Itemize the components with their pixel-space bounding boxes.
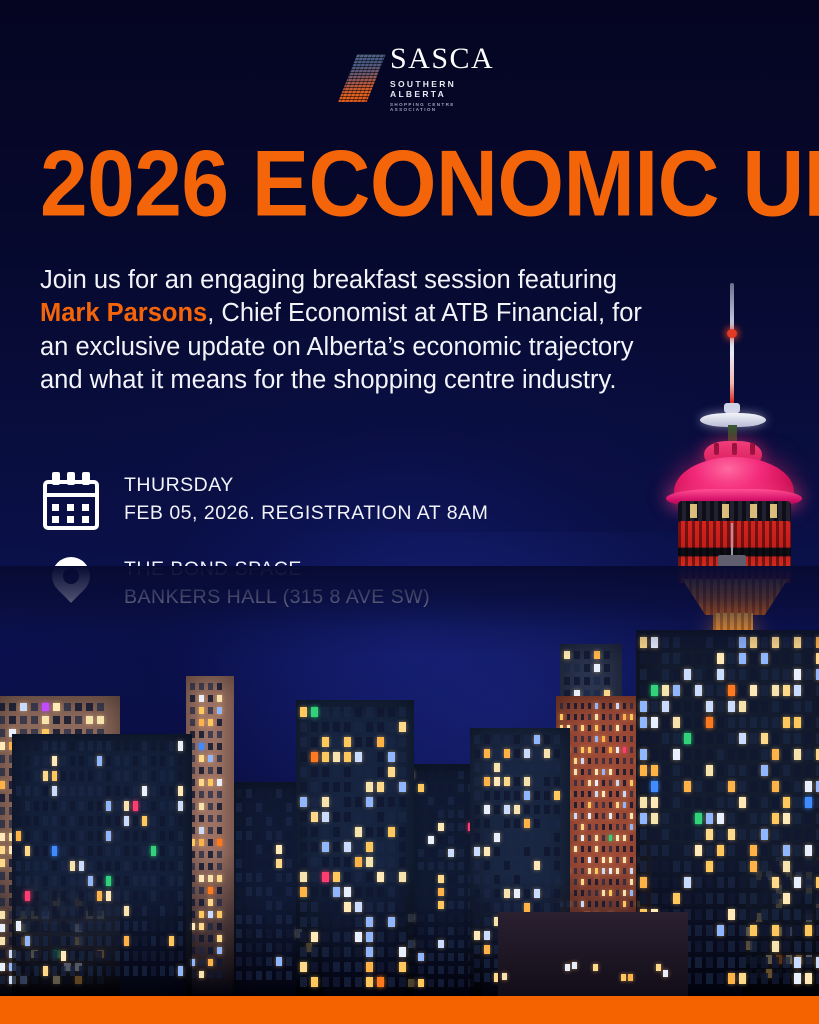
- logo-name: SASCA: [390, 44, 494, 74]
- calgary-tower-graphic: [656, 283, 819, 663]
- logo-subtitle-primary: SOUTHERN ALBERTA: [390, 79, 494, 99]
- event-day: THURSDAY: [124, 472, 488, 500]
- tower-mast: [730, 283, 734, 411]
- sasca-logo: SASCA SOUTHERN ALBERTA SHOPPING CENTRE A…: [345, 50, 485, 105]
- tower-observation-deck: [678, 501, 791, 523]
- building: [12, 734, 192, 996]
- event-date-text: THURSDAY FEB 05, 2026. REGISTRATION AT 8…: [124, 472, 488, 527]
- tower-elevator-car: [718, 555, 746, 567]
- tower-elevator-cable: [731, 523, 733, 557]
- event-date-time: FEB 05, 2026. REGISTRATION AT 8AM: [124, 500, 488, 528]
- event-details: THURSDAY FEB 05, 2026. REGISTRATION AT 8…: [40, 470, 560, 638]
- building: [186, 676, 234, 996]
- map-pin-icon: [40, 554, 102, 614]
- tower-crown-notch: [714, 443, 719, 455]
- speaker-name: Mark Parsons: [40, 299, 207, 327]
- calendar-icon: [40, 470, 102, 530]
- venue-name: THE BOND SPACE: [124, 556, 430, 584]
- tower-beacon-light: [727, 329, 737, 338]
- venue-address: BANKERS HALL (315 8 AVE SW): [124, 584, 430, 612]
- logo-subtitle-secondary: SHOPPING CENTRE ASSOCIATION: [390, 102, 494, 112]
- building-podium: [498, 912, 688, 996]
- logo-wordmark: SASCA SOUTHERN ALBERTA SHOPPING CENTRE A…: [390, 44, 494, 112]
- event-location-text: THE BOND SPACE BANKERS HALL (315 8 AVE S…: [124, 556, 430, 611]
- tower-underside-lights: [682, 579, 788, 615]
- event-poster: SASCA SOUTHERN ALBERTA SHOPPING CENTRE A…: [0, 0, 819, 1024]
- event-description: Join us for an engaging breakfast sessio…: [40, 264, 650, 398]
- striped-parallelogram-icon: [338, 54, 386, 102]
- building: [296, 700, 414, 996]
- event-location-row: THE BOND SPACE BANKERS HALL (315 8 AVE S…: [40, 554, 560, 614]
- page-title: 2026 ECONOMIC UPDATE: [40, 138, 805, 228]
- footer-accent-bar: [0, 996, 819, 1024]
- tower-crown-notch: [732, 443, 737, 455]
- tower-pod: [678, 521, 791, 583]
- description-part-1: Join us for an engaging breakfast sessio…: [40, 266, 617, 294]
- tower-crown-notch: [750, 443, 755, 455]
- tower-mast-base: [724, 403, 740, 413]
- event-date-row: THURSDAY FEB 05, 2026. REGISTRATION AT 8…: [40, 470, 560, 530]
